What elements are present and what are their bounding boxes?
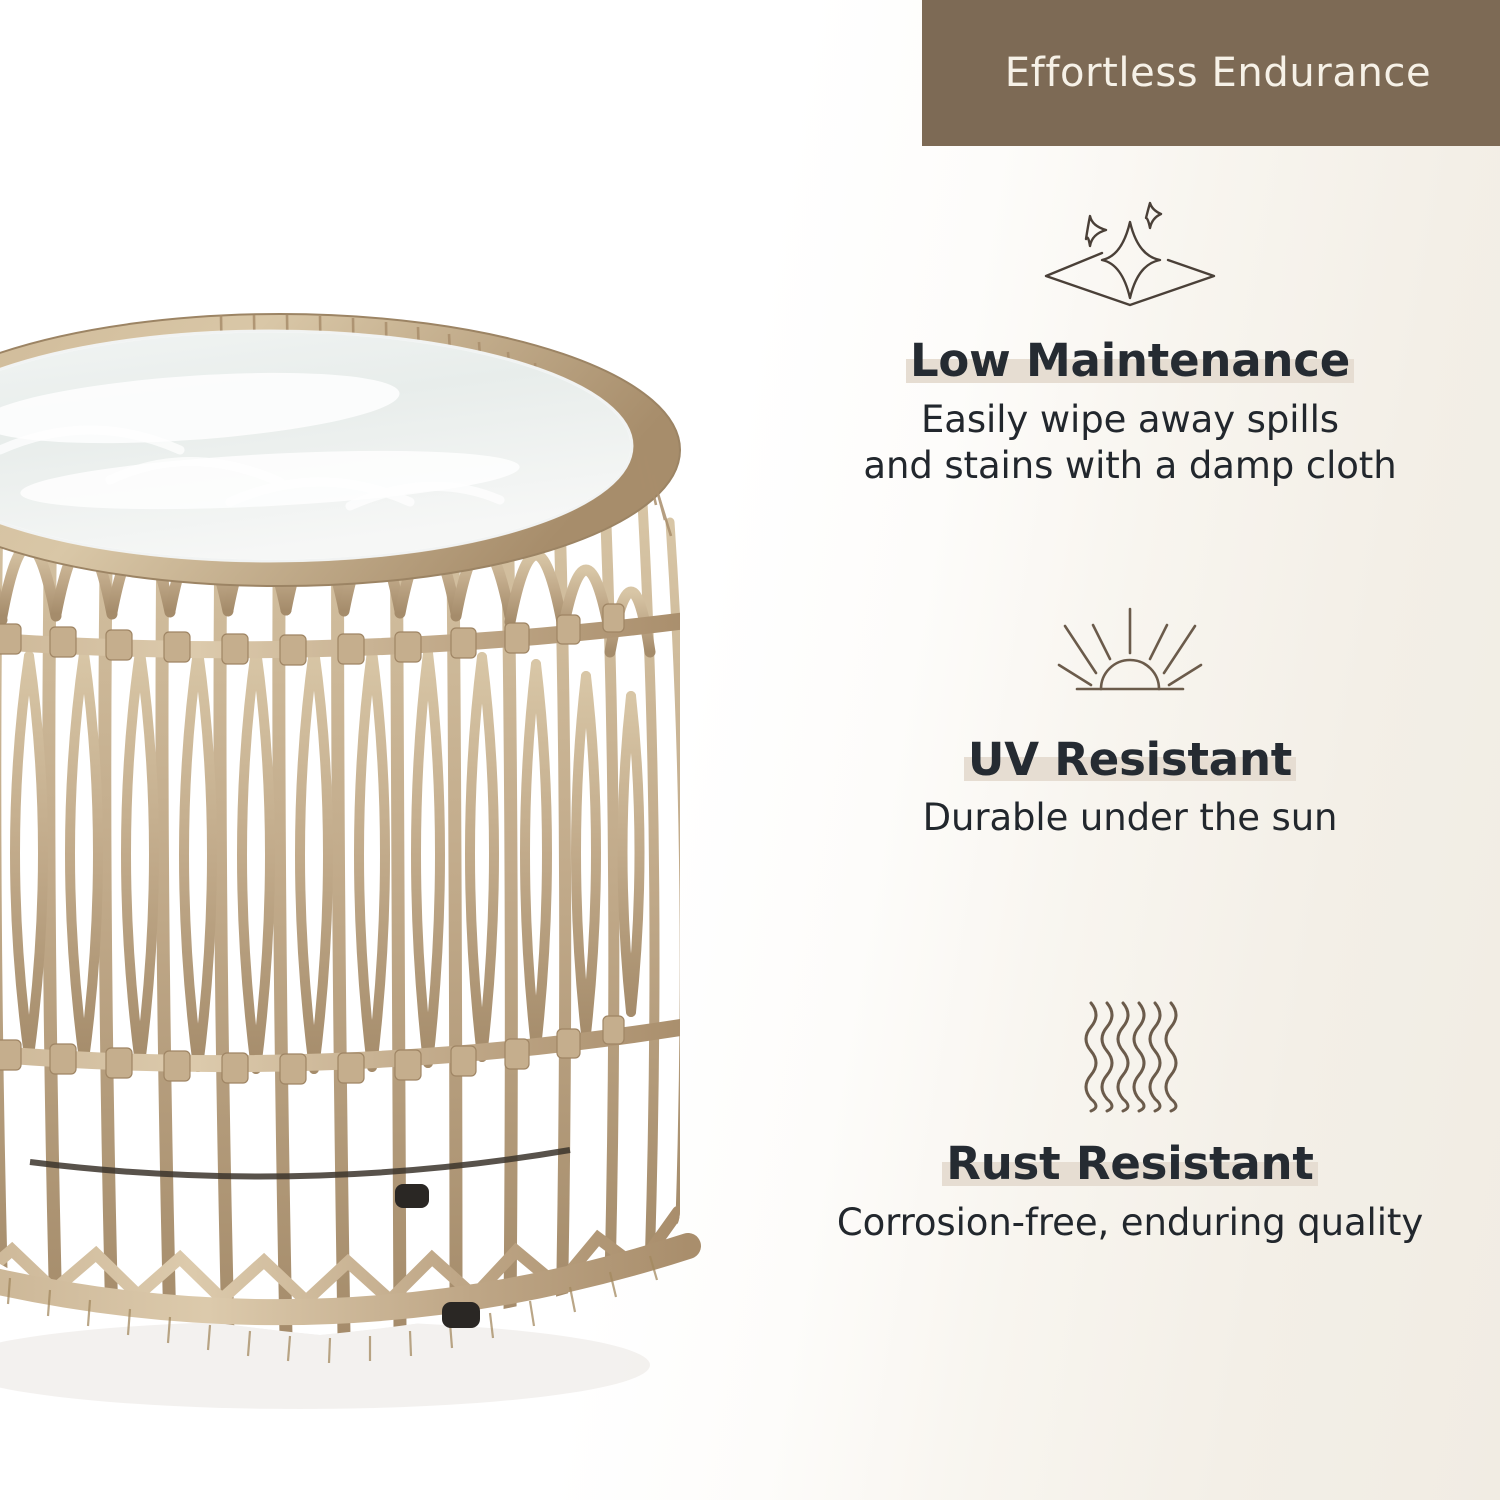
feature-subtitle: Easily wipe away spills and stains with … <box>863 397 1396 489</box>
rattan-coffee-table-illustration <box>0 150 760 1480</box>
product-image <box>0 150 760 1480</box>
feature-subtitle: Corrosion-free, enduring quality <box>837 1200 1423 1246</box>
rising-sun-icon <box>1055 601 1205 707</box>
water-waves-icon <box>1075 997 1185 1115</box>
feature-item-uv-resistant: UV Resistant Durable under the sun <box>760 559 1500 960</box>
feature-subtitle-line: Durable under the sun <box>923 795 1338 841</box>
feature-title: Rust Resistant <box>946 1137 1313 1190</box>
feature-subtitle-line: and stains with a damp cloth <box>863 443 1396 489</box>
feature-title: Low Maintenance <box>910 334 1350 387</box>
product-feature-infographic: Effortless Endurance Low Maintenance Eas… <box>0 0 1500 1500</box>
feature-subtitle-line: Corrosion-free, enduring quality <box>837 1200 1423 1246</box>
feature-title-wrap: Low Maintenance <box>910 338 1350 385</box>
feature-item-low-maintenance: Low Maintenance Easily wipe away spills … <box>760 176 1500 559</box>
feature-title: UV Resistant <box>968 733 1292 786</box>
banner-effortless-endurance: Effortless Endurance <box>922 0 1500 146</box>
feature-title-wrap: UV Resistant <box>968 737 1292 784</box>
feature-subtitle-line: Easily wipe away spills <box>863 397 1396 443</box>
feature-title-wrap: Rust Resistant <box>946 1141 1313 1188</box>
sparkle-surface-icon <box>1040 200 1220 312</box>
feature-list: Low Maintenance Easily wipe away spills … <box>760 176 1500 1356</box>
feature-subtitle: Durable under the sun <box>923 795 1338 841</box>
feature-item-rust-resistant: Rust Resistant Corrosion-free, enduring … <box>760 959 1500 1356</box>
banner-title: Effortless Endurance <box>991 50 1431 96</box>
